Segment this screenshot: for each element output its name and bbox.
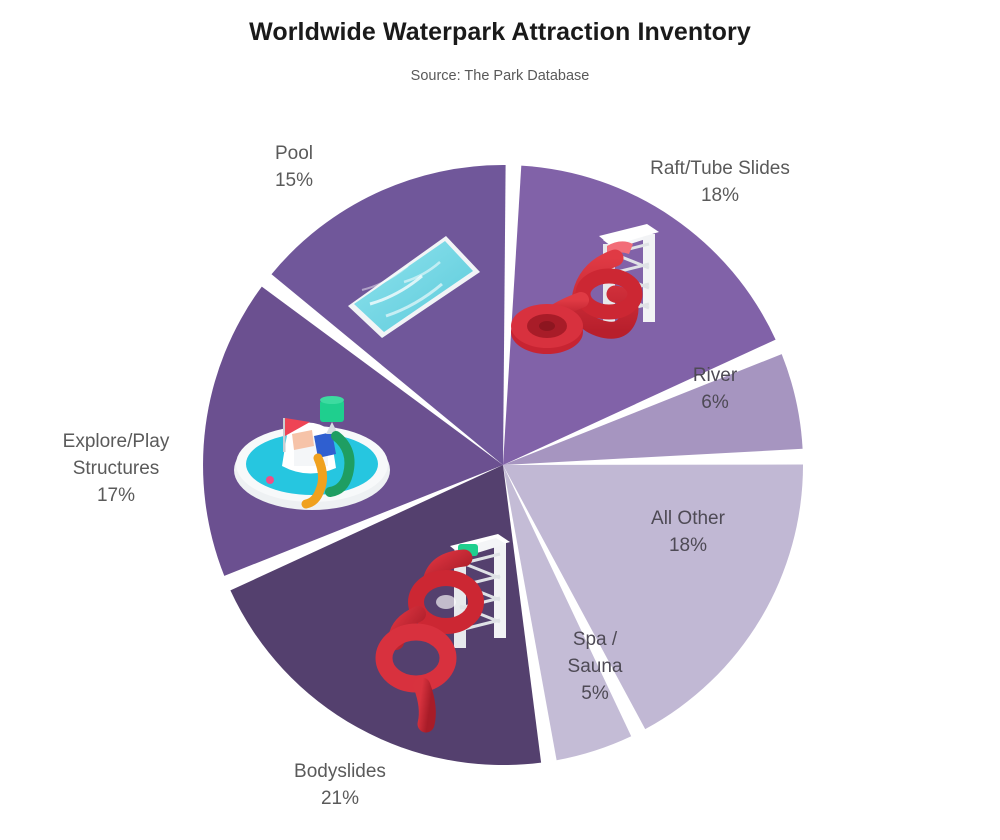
pie-label-river-value: 6% — [651, 389, 779, 416]
pie-label-spa-sauna: Spa / Sauna 5% — [539, 626, 651, 707]
pie-label-spa-sauna-text2: Sauna — [539, 653, 651, 680]
pie-label-river-text: River — [693, 365, 737, 386]
pie-label-bodyslides-value: 21% — [255, 785, 425, 812]
pie-label-explore-play-structures-value: 17% — [32, 482, 200, 509]
pie-chart — [0, 0, 1000, 840]
pie-label-all-other-text: All Other — [651, 508, 725, 529]
pie-label-pool-value: 15% — [228, 167, 360, 194]
pie-label-raft-tube-slides-value: 18% — [616, 182, 824, 209]
pie-label-bodyslides-text: Bodyslides — [294, 761, 386, 782]
pie-label-raft-tube-slides-text: Raft/Tube Slides — [650, 158, 790, 179]
pie-label-explore-play-structures-text2: Structures — [32, 455, 200, 482]
pie-label-raft-tube-slides: Raft/Tube Slides 18% — [616, 155, 824, 209]
pie-label-all-other-value: 18% — [614, 532, 762, 559]
pie-label-bodyslides: Bodyslides 21% — [255, 758, 425, 812]
pie-label-explore-play-structures: Explore/Play Structures 17% — [32, 428, 200, 509]
pie-label-explore-play-structures-text: Explore/Play — [63, 431, 170, 452]
pie-label-pool-text: Pool — [275, 143, 313, 164]
pie-label-pool: Pool 15% — [228, 140, 360, 194]
pie-label-all-other: All Other 18% — [614, 505, 762, 559]
chart-canvas: Worldwide Waterpark Attraction Inventory… — [0, 0, 1000, 840]
pie-label-river: River 6% — [651, 362, 779, 416]
pie-label-spa-sauna-value: 5% — [539, 680, 651, 707]
pie-label-spa-sauna-text: Spa / — [573, 629, 617, 650]
